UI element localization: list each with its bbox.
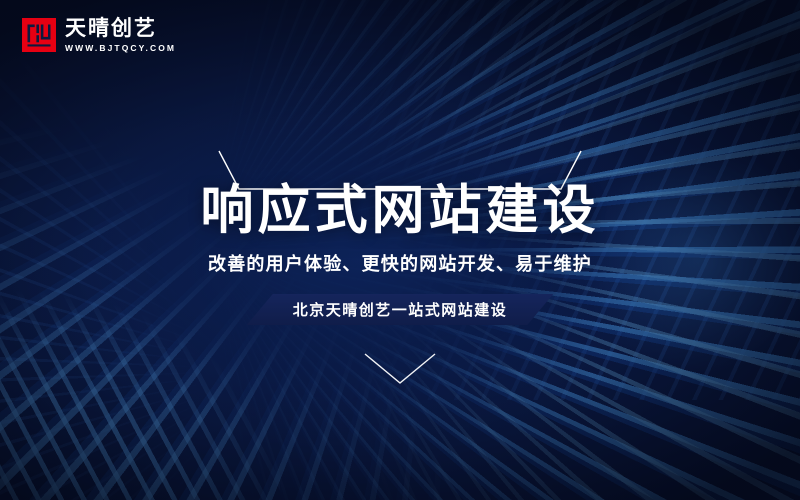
brand-logo[interactable]: 天晴创艺 WWW.BJTQCY.COM bbox=[22, 18, 176, 53]
tianqing-square-mark-icon bbox=[22, 18, 56, 52]
promo-banner: 天晴创艺 WWW.BJTQCY.COM 响应式网站建设 改善的用户体验、更快的网… bbox=[0, 0, 800, 500]
tagline-container: 北京天晴创艺一站式网站建设 bbox=[0, 294, 800, 325]
hero-content: 响应式网站建设 改善的用户体验、更快的网站开发、易于维护 北京天晴创艺一站式网站… bbox=[0, 0, 800, 500]
chevron-container bbox=[0, 352, 800, 386]
tagline-text: 北京天晴创艺一站式网站建设 bbox=[293, 299, 508, 320]
hero-subtitle: 改善的用户体验、更快的网站开发、易于维护 bbox=[0, 254, 800, 276]
brand-logo-text: 天晴创艺 WWW.BJTQCY.COM bbox=[65, 18, 176, 53]
tagline-band: 北京天晴创艺一站式网站建设 bbox=[247, 294, 554, 325]
brand-url: WWW.BJTQCY.COM bbox=[65, 44, 176, 53]
chevron-down-icon bbox=[363, 352, 437, 386]
brand-name: 天晴创艺 bbox=[65, 18, 176, 39]
page-title: 响应式网站建设 bbox=[0, 182, 800, 240]
